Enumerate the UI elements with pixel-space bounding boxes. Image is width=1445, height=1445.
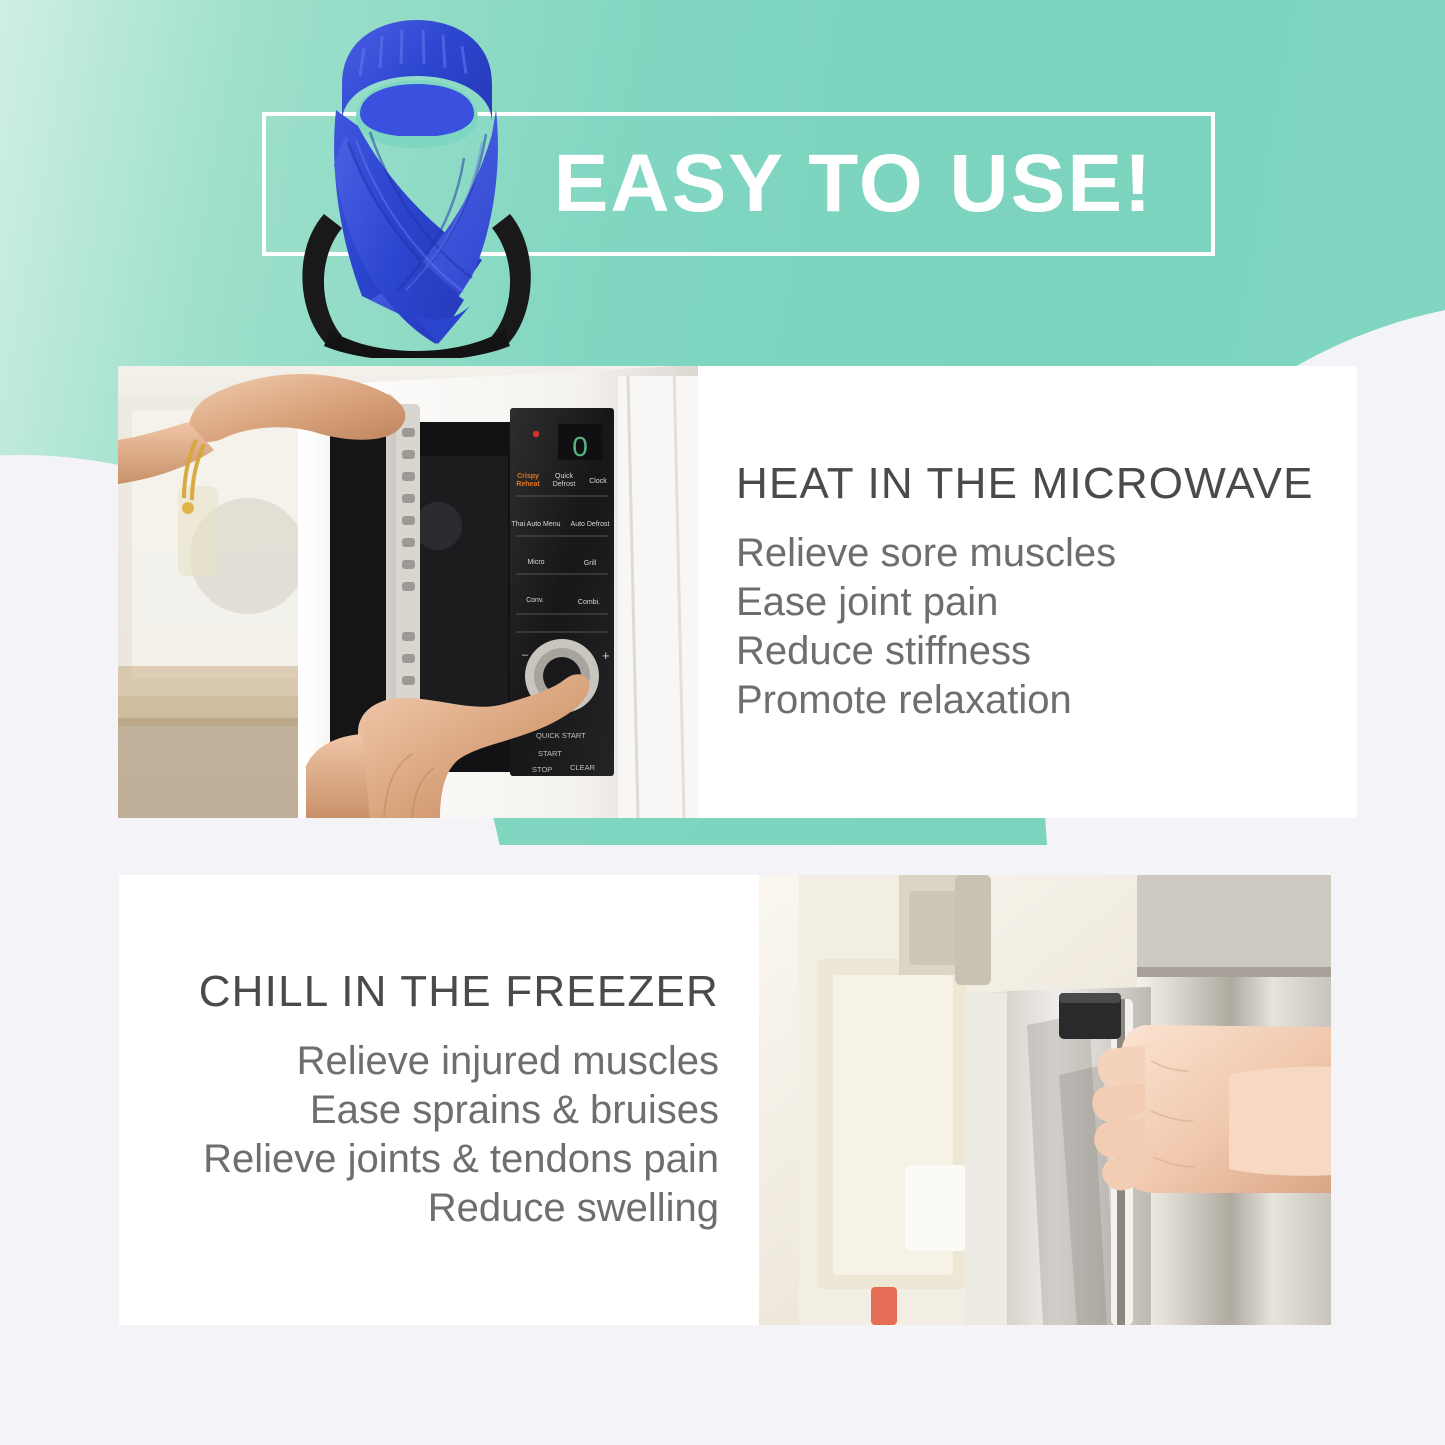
microwave-illustration: 0 Crispy Reheat Quick Defrost Clock Thai…: [118, 366, 698, 818]
list-item: Relieve sore muscles: [736, 529, 1116, 578]
svg-text:0: 0: [572, 431, 588, 462]
list-item: Reduce swelling: [203, 1184, 719, 1233]
freezer-photo: [759, 875, 1331, 1325]
refrigerator-illustration: [759, 875, 1331, 1325]
svg-text:Defrost: Defrost: [553, 481, 576, 488]
list-item: Relieve joints & tendons pain: [203, 1135, 719, 1184]
product-image: [286, 14, 548, 358]
svg-text:QUICK START: QUICK START: [536, 731, 586, 740]
svg-text:Crispy: Crispy: [517, 473, 539, 480]
chill-text-block: CHILL IN THE FREEZER Relieve injured mus…: [119, 875, 759, 1325]
hero-section: EASY TO USE!: [0, 0, 1445, 366]
card-chill-in-freezer: CHILL IN THE FREEZER Relieve injured mus…: [119, 875, 1331, 1325]
svg-text:Combi.: Combi.: [578, 599, 600, 606]
svg-text:–: –: [522, 649, 529, 661]
infographic-stage: EASY TO USE!: [0, 0, 1445, 1445]
svg-text:Thai Auto Menu: Thai Auto Menu: [511, 521, 560, 528]
svg-text:Conv.: Conv.: [526, 597, 544, 604]
svg-text:STOP: STOP: [532, 765, 552, 774]
list-item: Relieve injured muscles: [203, 1037, 719, 1086]
card-heading-chill: CHILL IN THE FREEZER: [199, 967, 719, 1017]
svg-text:Auto Defrost: Auto Defrost: [571, 521, 610, 528]
benefit-list-chill: Relieve injured muscles Ease sprains & b…: [203, 1037, 719, 1232]
list-item: Ease sprains & bruises: [203, 1086, 719, 1135]
svg-text:CLEAR: CLEAR: [570, 763, 596, 772]
neck-wrap-illustration: [286, 14, 548, 358]
svg-text:START: START: [538, 749, 562, 758]
card-heat-in-microwave: 0 Crispy Reheat Quick Defrost Clock Thai…: [118, 366, 1357, 818]
heat-text-block: HEAT IN THE MICROWAVE Relieve sore muscl…: [698, 366, 1357, 818]
svg-text:Quick: Quick: [555, 473, 573, 480]
svg-text:Clock: Clock: [589, 478, 607, 485]
svg-text:+: +: [602, 648, 610, 663]
benefit-list-heat: Relieve sore muscles Ease joint pain Red…: [736, 529, 1116, 724]
svg-text:Reheat: Reheat: [516, 481, 540, 488]
microwave-photo: 0 Crispy Reheat Quick Defrost Clock Thai…: [118, 366, 698, 818]
svg-text:Micro: Micro: [527, 559, 544, 566]
list-item: Promote relaxation: [736, 676, 1116, 725]
list-item: Ease joint pain: [736, 578, 1116, 627]
card-heading-heat: HEAT IN THE MICROWAVE: [736, 459, 1314, 509]
list-item: Reduce stiffness: [736, 627, 1116, 676]
svg-text:Grill: Grill: [584, 560, 597, 567]
